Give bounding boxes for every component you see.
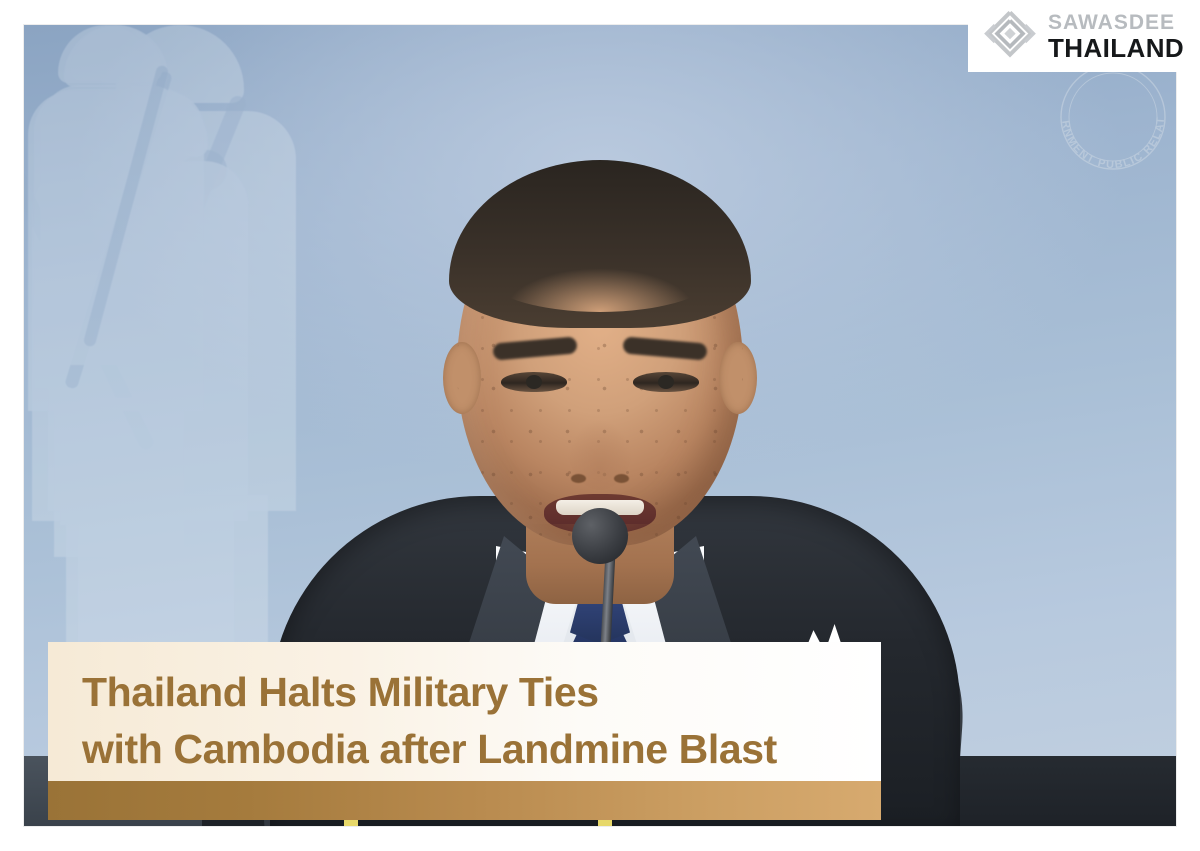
brand-line-top: SAWASDEE — [1048, 12, 1184, 33]
news-image-card: Thailand Halts Military Ties with Cambod… — [24, 25, 1176, 826]
headline-line-1: Thailand Halts Military Ties — [82, 664, 881, 721]
brand-line-bottom: THAILAND — [1048, 35, 1184, 61]
brand-wordmark: SAWASDEE THAILAND — [1048, 12, 1184, 61]
diamond-chevron-mark-icon — [984, 10, 1036, 62]
brand-logo-plate[interactable]: SAWASDEE THAILAND — [968, 0, 1200, 72]
headline-line-2: with Cambodia after Landmine Blast — [82, 721, 881, 778]
microphone-head — [572, 508, 628, 564]
eye-left — [501, 372, 567, 392]
hair — [449, 160, 751, 328]
face — [457, 174, 743, 546]
headline-banner: Thailand Halts Military Ties with Cambod… — [48, 642, 881, 781]
nostril-right — [614, 474, 629, 483]
nostril-left — [571, 474, 586, 483]
gold-accent-bar — [48, 781, 881, 820]
eye-right — [633, 372, 699, 392]
